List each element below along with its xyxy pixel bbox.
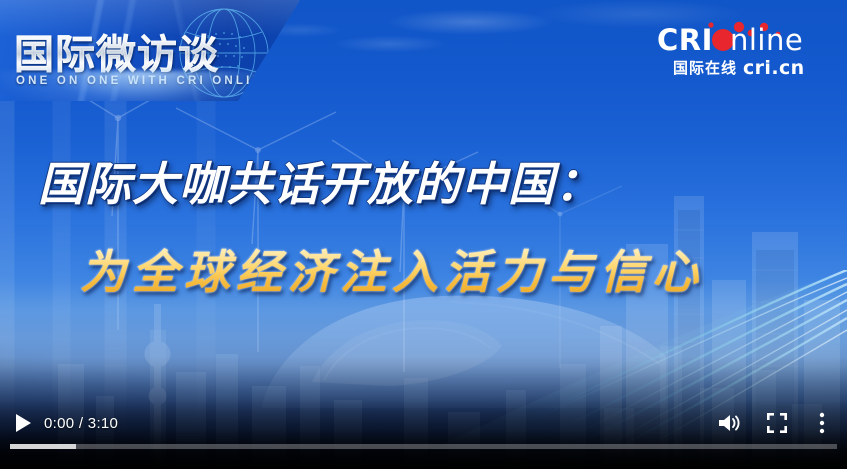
svg-text:nline: nline	[730, 23, 803, 57]
svg-text:CRI: CRI	[657, 23, 713, 57]
volume-icon	[717, 412, 741, 434]
svg-text:cri.cn: cri.cn	[743, 57, 805, 79]
more-options-button[interactable]	[805, 402, 839, 444]
fullscreen-button[interactable]	[757, 402, 797, 444]
cri-online-logo[interactable]: CRI nline 国际在线 cri.cn	[651, 18, 831, 80]
progress-bar[interactable]	[10, 444, 837, 449]
player-controls[interactable]: 0:00 / 3:10	[0, 400, 847, 469]
title-line-2: 为全球经济注入活力与信心	[80, 236, 847, 302]
time-display: 0:00 / 3:10	[44, 415, 118, 432]
video-player[interactable]: 国际微访谈 ONE ON ONE WITH CRI ONLINE CRI nli…	[0, 0, 847, 469]
banner-glow	[0, 71, 280, 101]
title-line-1: 国际大咖共话开放的中国：	[38, 148, 847, 214]
progress-buffered	[10, 444, 76, 449]
more-options-icon	[819, 412, 825, 434]
video-title: 国际大咖共话开放的中国： 为全球经济注入活力与信心	[0, 148, 847, 302]
play-button[interactable]	[4, 402, 42, 444]
volume-button[interactable]	[709, 402, 749, 444]
svg-text:国际在线: 国际在线	[673, 59, 737, 77]
play-icon	[14, 413, 32, 433]
fullscreen-icon	[767, 413, 787, 433]
